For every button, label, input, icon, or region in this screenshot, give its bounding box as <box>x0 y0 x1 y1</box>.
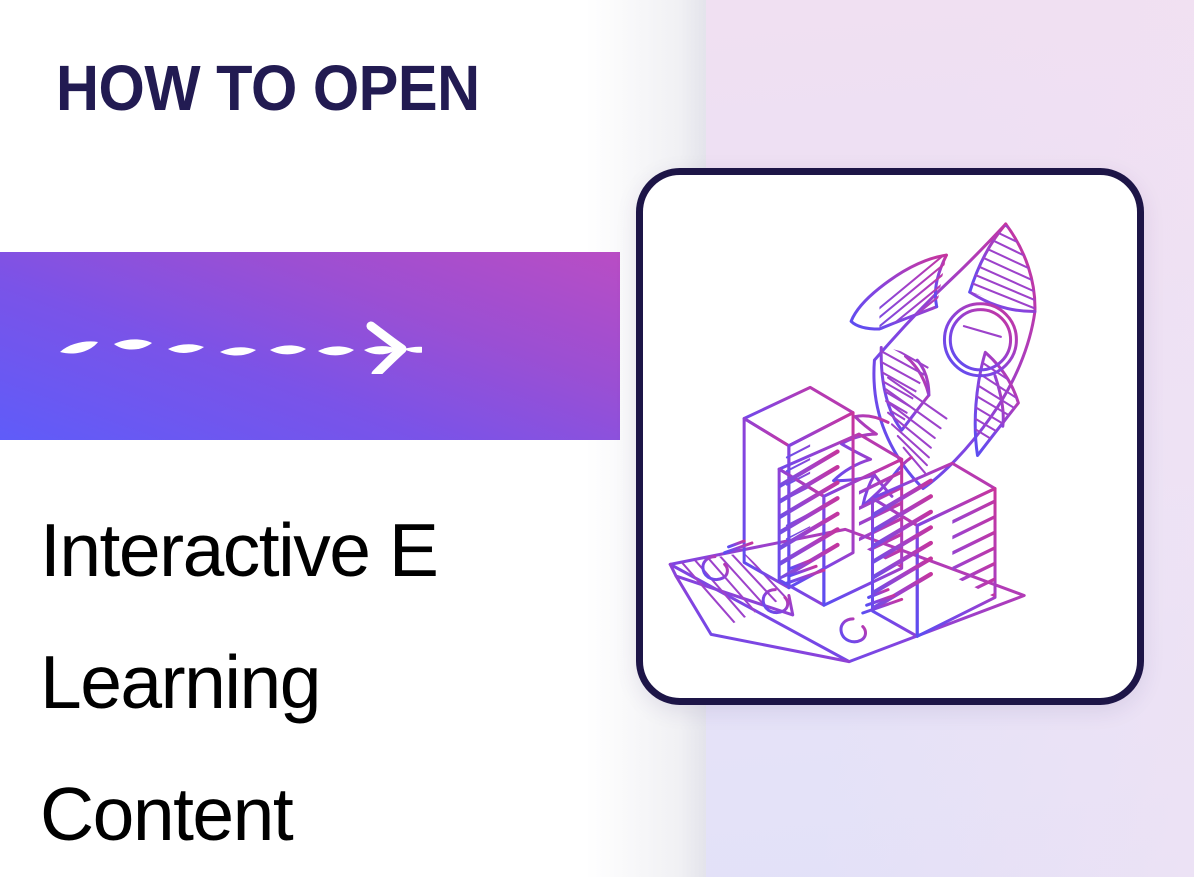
illustration-card <box>636 168 1144 705</box>
page-title-line-1: Interactive E <box>40 484 640 616</box>
page-title: Interactive E Learning Content <box>40 484 640 877</box>
poster-canvas: HOW TO OPEN Interactive E Learning Conte… <box>0 0 1194 877</box>
dashed-arrow-right-icon <box>52 318 422 374</box>
page-title-line-2: Learning <box>40 616 640 748</box>
page-title-line-3: Content <box>40 748 640 877</box>
page-kicker: HOW TO OPEN <box>56 56 651 120</box>
